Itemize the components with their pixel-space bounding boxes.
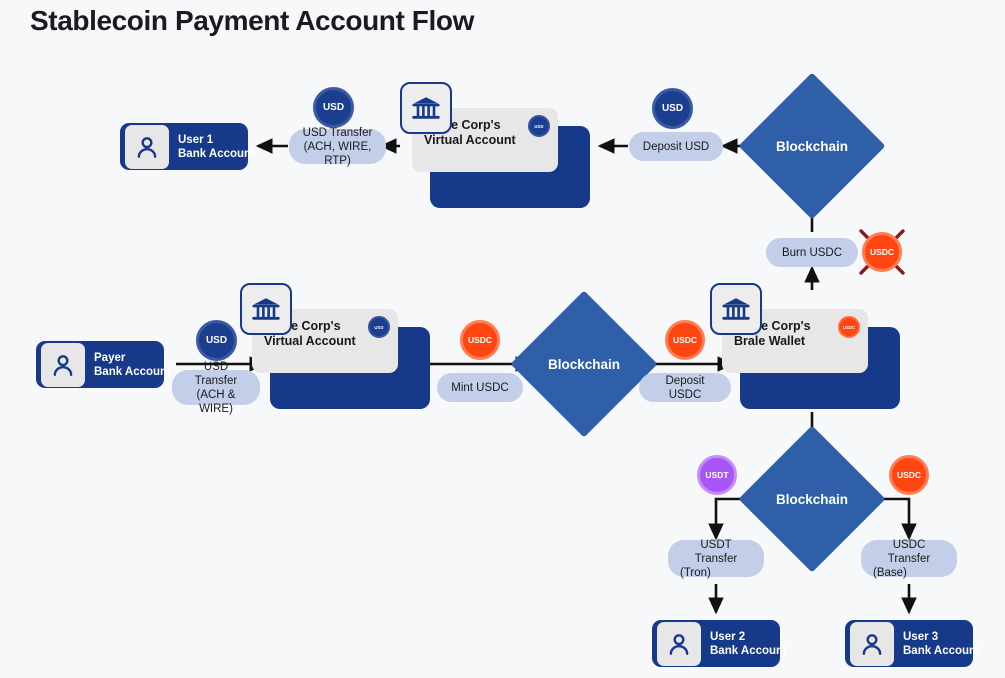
account-line2: Bank Account — [94, 365, 171, 379]
account-label: Payer Bank Account — [94, 351, 171, 379]
bank-icon — [400, 82, 452, 134]
node-blockchain-bottom[interactable]: Blockchain — [760, 447, 864, 551]
pill-burn-usdc[interactable]: Burn USDC — [766, 238, 858, 267]
pill-mint-usdc[interactable]: Mint USDC — [437, 373, 523, 402]
account-line1: User 3 — [903, 630, 980, 644]
card-line2: Brale Wallet — [734, 334, 856, 349]
person-icon — [41, 343, 85, 387]
pill-deposit-usd[interactable]: Deposit USD — [629, 132, 723, 161]
pill-usdc-transfer[interactable]: USDC Transfer (Base) — [861, 540, 957, 577]
pill-line1: USDC Transfer — [873, 538, 945, 566]
node-user2-bank-account[interactable]: User 2 Bank Account — [652, 620, 780, 667]
pill-line1: USDT Transfer — [680, 538, 752, 566]
account-line1: User 1 — [178, 133, 255, 147]
badge-usdc: USDC — [838, 316, 860, 338]
token-usd-deposit: USD — [652, 88, 693, 129]
node-user3-bank-account[interactable]: User 3 Bank Account — [845, 620, 973, 667]
node-acme-virtual-account-top[interactable]: Acme Corp's Virtual Account USD — [430, 126, 590, 208]
node-blockchain-top[interactable]: Blockchain — [760, 94, 864, 198]
bank-icon — [710, 283, 762, 335]
diamond-label: Blockchain — [548, 357, 620, 372]
pill-deposit-usdc[interactable]: Deposit USDC — [639, 373, 731, 402]
badge-usd: USD — [368, 316, 390, 338]
person-icon — [657, 622, 701, 666]
bank-icon — [240, 283, 292, 335]
account-label: User 1 Bank Account — [178, 133, 255, 161]
node-acme-virtual-account-mid[interactable]: Acme Corp's Virtual Account USD — [270, 327, 430, 409]
account-label: User 2 Bank Account — [710, 630, 787, 658]
account-line2: Bank Account — [710, 644, 787, 658]
token-usd-top: USD — [313, 87, 354, 128]
account-line1: User 2 — [710, 630, 787, 644]
account-line2: Bank Account — [903, 644, 980, 658]
diagram-canvas: Stablecoin Payment Account Flow User 1 B… — [0, 0, 1005, 678]
pill-usdt-transfer[interactable]: USDT Transfer (Tron) — [668, 540, 764, 577]
node-acme-brale-wallet[interactable]: Acme Corp's Brale Wallet USDC — [740, 327, 900, 409]
account-line2: Bank Account — [178, 147, 255, 161]
account-label: User 3 Bank Account — [903, 630, 980, 658]
node-user1-bank-account[interactable]: User 1 Bank Account — [120, 123, 248, 170]
page-title: Stablecoin Payment Account Flow — [30, 5, 474, 37]
token-usd-mid: USD — [196, 320, 237, 361]
node-blockchain-mid[interactable]: Blockchain — [532, 312, 636, 416]
pill-line1: USD Transfer — [184, 360, 248, 388]
card-line2: Virtual Account — [424, 133, 546, 148]
node-payer-bank-account[interactable]: Payer Bank Account — [36, 341, 164, 388]
token-usdc-burn: USDC — [862, 232, 902, 272]
person-icon — [125, 125, 169, 169]
pill-usd-transfer-top[interactable]: USD Transfer (ACH, WIRE, RTP) — [289, 129, 386, 164]
token-usdc-mint: USDC — [460, 320, 500, 360]
diamond-label: Blockchain — [776, 492, 848, 507]
pill-line2: (ACH, WIRE, RTP) — [301, 140, 374, 168]
account-line1: Payer — [94, 351, 171, 365]
token-usdc-deposit: USDC — [665, 320, 705, 360]
pill-line2: (ACH & WIRE) — [184, 388, 248, 416]
token-usdc-bottom: USDC — [889, 455, 929, 495]
diamond-label: Blockchain — [776, 139, 848, 154]
pill-line2: (Base) — [873, 566, 907, 580]
token-usdt-bottom: USDT — [697, 455, 737, 495]
card-line2: Virtual Account — [264, 334, 386, 349]
pill-line2: (Tron) — [680, 566, 711, 580]
person-icon — [850, 622, 894, 666]
badge-usd: USD — [528, 115, 550, 137]
pill-usd-transfer-mid[interactable]: USD Transfer (ACH & WIRE) — [172, 370, 260, 405]
